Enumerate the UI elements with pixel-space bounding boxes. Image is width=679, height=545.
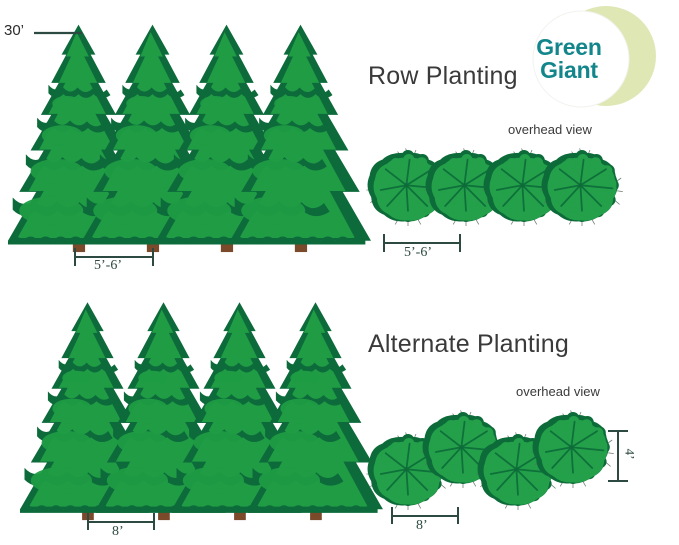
alternate-planting-overhead — [366, 412, 631, 517]
overhead-caption-row: overhead view — [508, 122, 592, 137]
overhead-caption-alternate: overhead view — [516, 384, 600, 399]
logo-circles — [518, 4, 668, 114]
row-planting-elevation — [0, 18, 340, 258]
row-planting-overhead — [366, 150, 636, 235]
heading-alternate-planting: Alternate Planting — [368, 330, 569, 359]
spacing-dimension-alternate-overhead — [388, 506, 468, 526]
height-label-30: 30’ — [4, 22, 24, 39]
spacing-dimension-alternate-elevation — [84, 512, 164, 532]
offset-label-alternate: 4’ — [621, 449, 637, 460]
heading-row-planting: Row Planting — [368, 62, 518, 91]
alternate-shrubs-svg — [366, 412, 631, 517]
spacing-label-alternate-elevation: 8’ — [112, 524, 124, 540]
spacing-label-alternate-overhead: 8’ — [416, 518, 428, 534]
spacing-label-row-elevation: 5’-6’ — [94, 258, 122, 274]
alternate-trees-svg — [0, 296, 340, 526]
spacing-label-row-overhead: 5’-6’ — [404, 245, 432, 261]
diagram-canvas: 30’ 5’-6’ Row Planting Green Giant overh… — [0, 0, 679, 545]
green-giant-logo: Green Giant — [518, 4, 668, 114]
shrub-overhead — [540, 148, 622, 226]
row-shrubs-svg — [366, 150, 636, 235]
row-trees-svg — [0, 18, 340, 258]
height-leader-line — [34, 31, 84, 35]
alternate-planting-elevation — [0, 296, 340, 526]
